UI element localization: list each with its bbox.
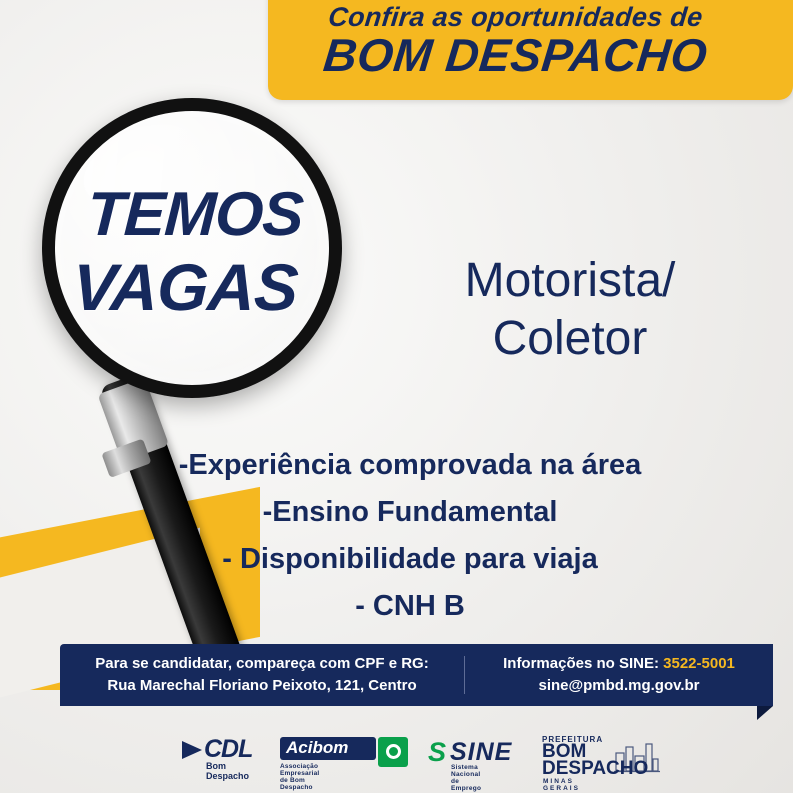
- footer-phone-number[interactable]: 3522-5001: [663, 655, 735, 672]
- requirement-item: -Experiência comprovada na área: [60, 442, 760, 489]
- footer-contact-bar: Para se candidatar, compareça com CPF e …: [60, 644, 773, 706]
- requirement-item: -Ensino Fundamental: [60, 489, 760, 536]
- acibom-subtitle: Associação Empresarial de Bom Despacho: [280, 763, 319, 791]
- header-banner: Confira as oportunidades de BOM DESPACHO: [268, 0, 793, 100]
- prefeitura-subtitle: MINAS GERAIS: [543, 778, 580, 792]
- job-title: Motorista/ Coletor: [370, 252, 770, 368]
- acibom-wordmark: Acibom: [286, 738, 348, 758]
- headline-temos: TEMOS: [48, 185, 341, 245]
- cdl-subtitle: Bom Despacho: [206, 761, 249, 781]
- footer-address-line-1: Para se candidatar, compareça com CPF e …: [60, 653, 464, 675]
- acibom-ring-icon: [386, 744, 401, 759]
- cdl-triangle-icon: [182, 741, 202, 759]
- footer-phone-label: Informações no SINE:: [503, 655, 659, 672]
- cdl-wordmark: CDL: [204, 735, 252, 764]
- footer-contact-block: Informações no SINE: 3522-5001 sine@pmbd…: [465, 653, 773, 697]
- footer-email[interactable]: sine@pmbd.mg.gov.br: [465, 675, 773, 697]
- prefeitura-skyline-icon: [614, 739, 660, 773]
- headline-vagas: VAGAS: [38, 256, 331, 318]
- header-title: BOM DESPACHO: [265, 28, 766, 82]
- poster-canvas: Confira as oportunidades de BOM DESPACHO…: [0, 0, 793, 793]
- footer-address-block: Para se candidatar, compareça com CPF e …: [60, 653, 464, 697]
- sine-wordmark: SINE: [450, 738, 512, 767]
- requirements-list: -Experiência comprovada na área -Ensino …: [60, 442, 760, 630]
- footer-phone-line: Informações no SINE: 3522-5001: [465, 653, 773, 675]
- job-title-line-2: Coletor: [370, 310, 770, 368]
- job-title-line-1: Motorista/: [370, 252, 770, 310]
- logo-row: CDL Bom Despacho Acibom Associação Empre…: [0, 735, 793, 785]
- requirement-item: - CNH B: [60, 583, 760, 630]
- requirement-item: - Disponibilidade para viaja: [60, 536, 760, 583]
- sine-subtitle: Sistema Nacional de Emprego: [451, 764, 481, 792]
- sine-s-icon: S: [428, 737, 446, 768]
- footer-address-line-2: Rua Marechal Floriano Peixoto, 121, Cent…: [60, 675, 464, 697]
